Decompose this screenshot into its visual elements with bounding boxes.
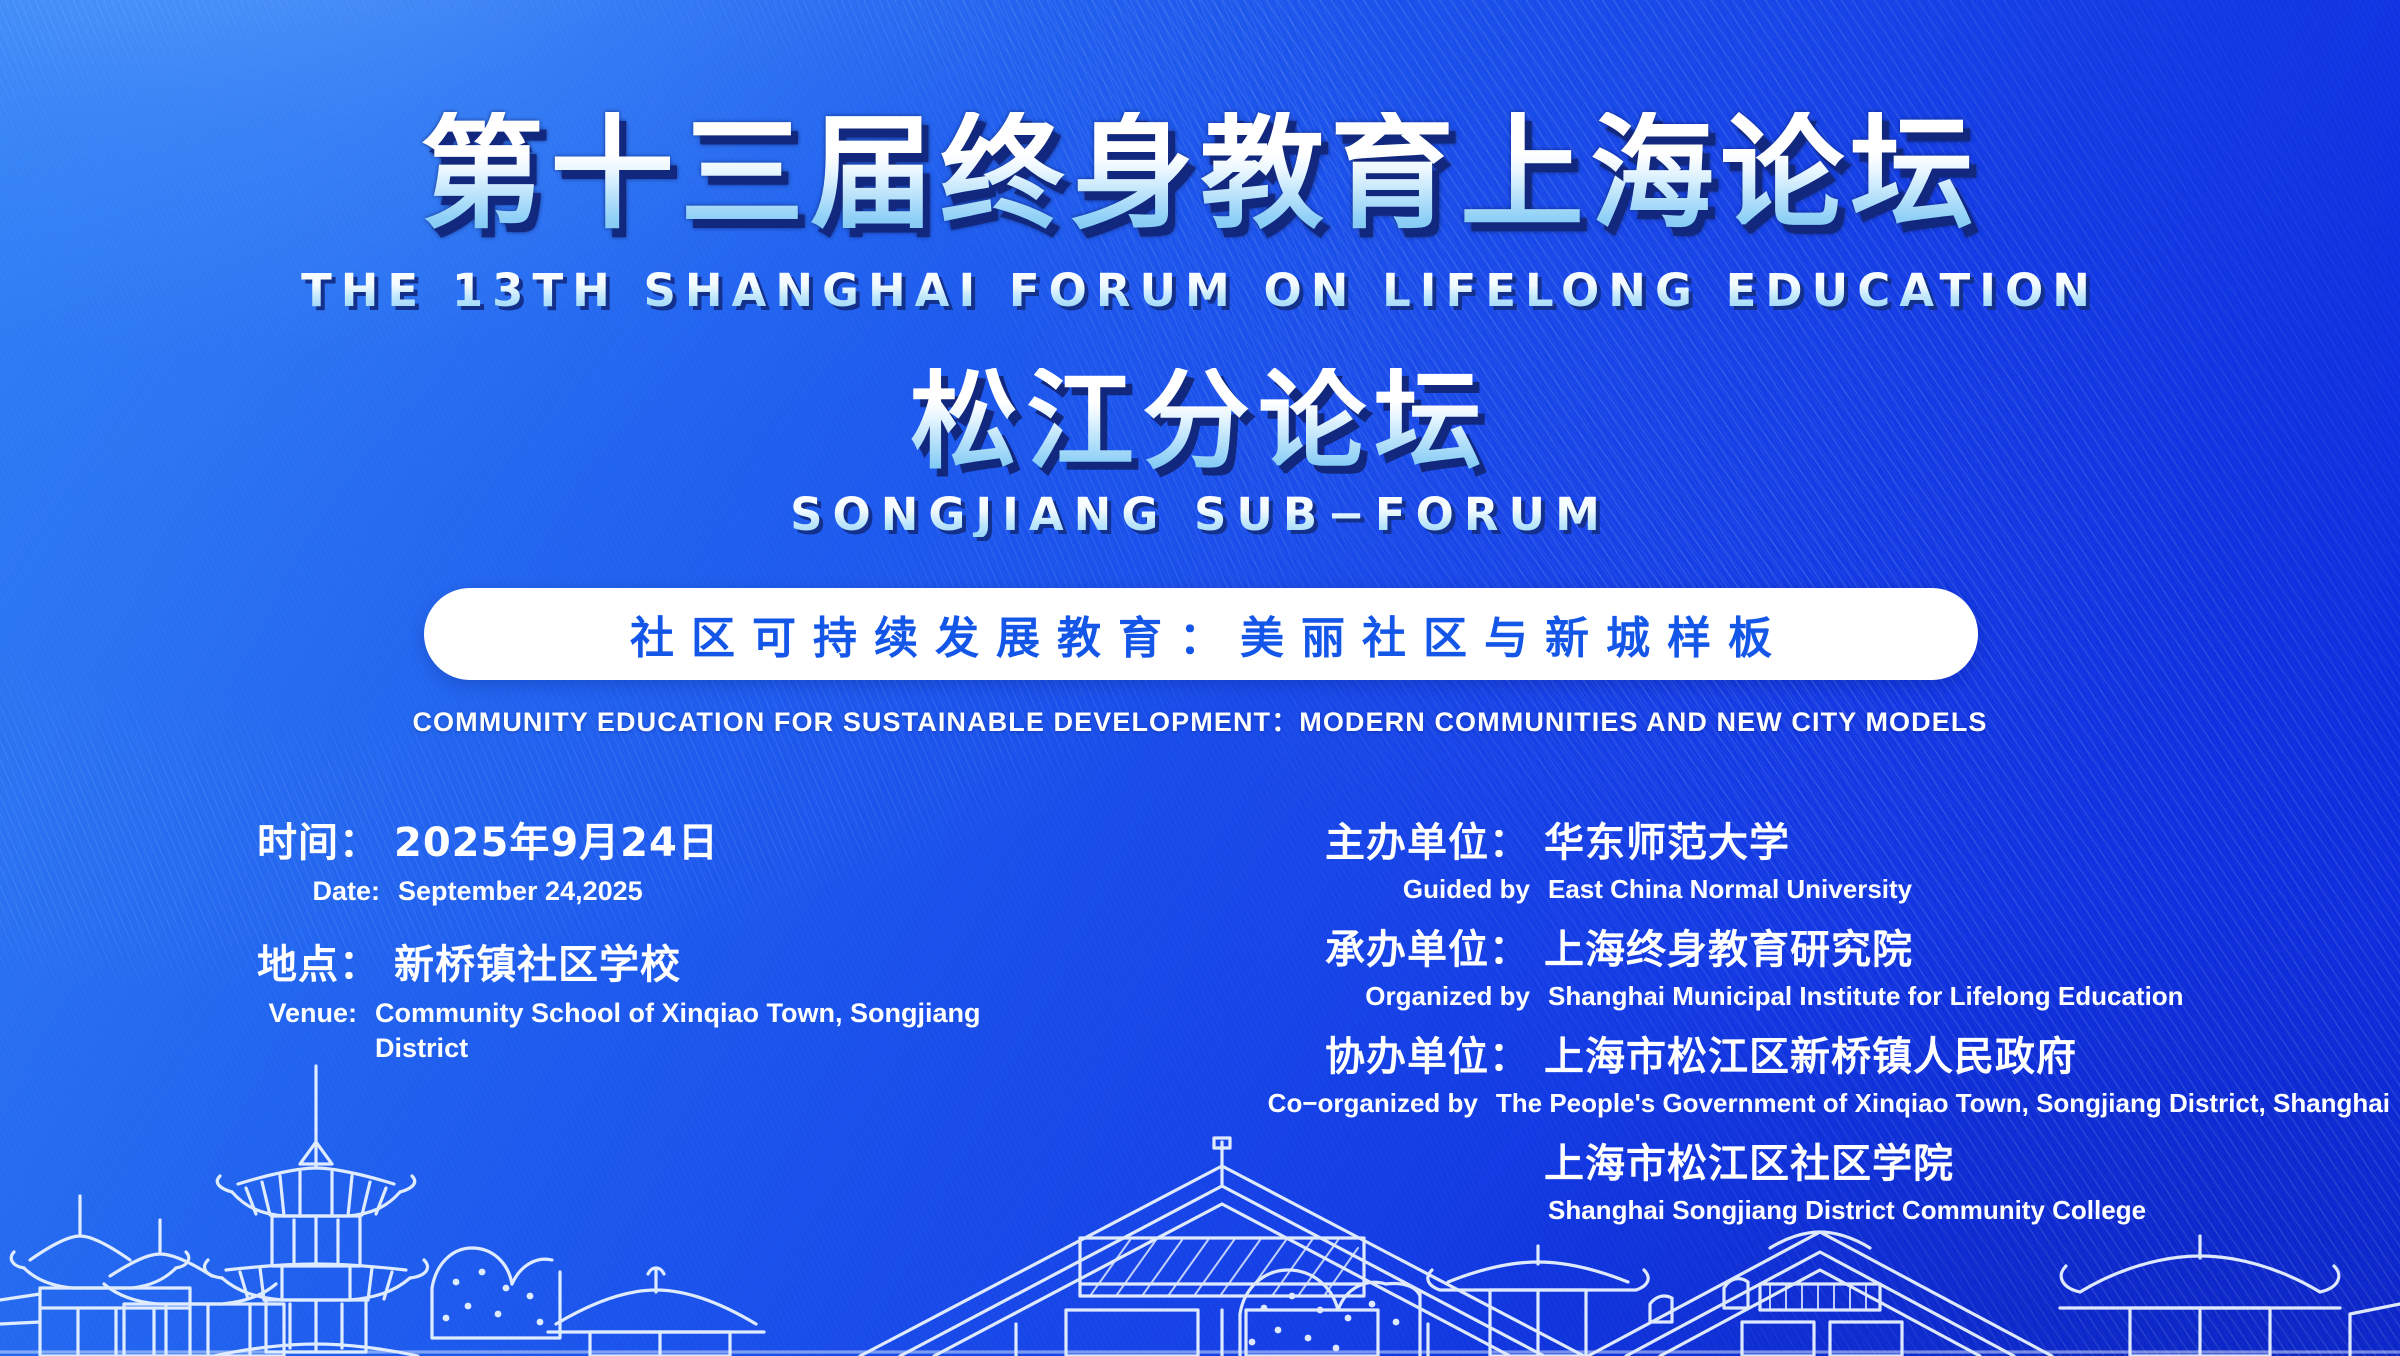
organizer-organized-by-value-en: Shanghai Municipal Institute for Lifelon… (1530, 981, 2184, 1012)
theme-text-cn: 社区可持续发展教育：美丽社区与新城样板 (613, 602, 1789, 666)
spacer (1260, 1012, 2390, 1024)
detail-date-value-en: September 24,2025 (380, 874, 643, 910)
detail-venue-cn: 地点： 新桥镇社区学校 (180, 932, 1000, 990)
spacer (1260, 905, 2390, 917)
conference-title-cn: 第十三届终身教育上海论坛 (0, 112, 2400, 236)
spacer (180, 910, 1000, 932)
detail-date-en: Date: September 24,2025 (180, 874, 1000, 910)
skyline-lineart (0, 1056, 2400, 1356)
detail-venue-label-cn: 地点： (180, 932, 380, 990)
sub-forum-title-en: SONGJIANG SUB−FORUM (0, 492, 2400, 537)
organizer-guided-by-cn: 主办单位： 华东师范大学 (1260, 810, 2390, 868)
organizer-organized-by-en: Organized by Shanghai Municipal Institut… (1260, 981, 2390, 1012)
detail-date-label-en: Date: (180, 876, 380, 907)
organizer-organized-by-value-cn: 上海终身教育研究院 (1530, 917, 1913, 975)
detail-date-cn: 时间： 2025年9月24日 (180, 810, 1000, 868)
detail-venue-label-en: Venue: (180, 998, 357, 1029)
organizer-guided-by: 主办单位： 华东师范大学 Guided by East China Normal… (1260, 810, 2390, 905)
organizer-organized-by: 承办单位： 上海终身教育研究院 Organized by Shanghai Mu… (1260, 917, 2390, 1012)
event-details-left: 时间： 2025年9月24日 Date: September 24,2025 地… (180, 810, 1000, 1067)
organizer-guided-by-value-cn: 华东师范大学 (1530, 810, 1790, 868)
organizer-guided-by-label-cn: 主办单位： (1260, 810, 1530, 868)
organizer-guided-by-en: Guided by East China Normal University (1260, 874, 2390, 905)
detail-venue-value-cn: 新桥镇社区学校 (380, 932, 681, 990)
theme-banner: 社区可持续发展教育：美丽社区与新城样板 (424, 588, 1978, 680)
conference-poster: 第十三届终身教育上海论坛 THE 13TH SHANGHAI FORUM ON … (0, 0, 2400, 1356)
organizer-organized-by-label-cn: 承办单位： (1260, 917, 1530, 975)
detail-date-label-cn: 时间： (180, 810, 380, 868)
organizer-guided-by-label-en: Guided by (1260, 874, 1530, 905)
detail-venue: 地点： 新桥镇社区学校 Venue: Community School of X… (180, 932, 1000, 1067)
theme-text-en: COMMUNITY EDUCATION FOR SUSTAINABLE DEVE… (0, 700, 2400, 739)
organizer-organized-by-cn: 承办单位： 上海终身教育研究院 (1260, 917, 2390, 975)
detail-date-value-cn: 2025年9月24日 (380, 810, 719, 868)
sub-forum-title-cn: 松江分论坛 (0, 368, 2400, 476)
organizer-guided-by-value-en: East China Normal University (1530, 874, 1912, 905)
conference-title-en: THE 13TH SHANGHAI FORUM ON LIFELONG EDUC… (0, 268, 2400, 313)
organizer-organized-by-label-en: Organized by (1260, 981, 1530, 1012)
detail-date: 时间： 2025年9月24日 Date: September 24,2025 (180, 810, 1000, 910)
